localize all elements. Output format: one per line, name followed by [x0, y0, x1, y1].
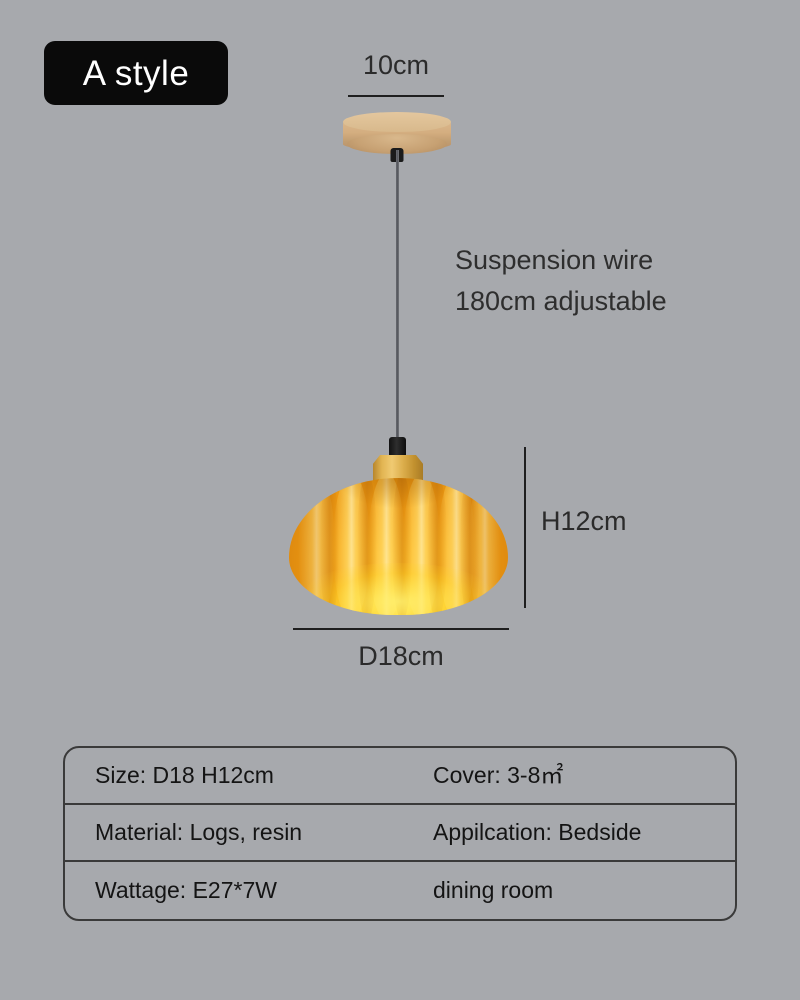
suspension-wire-note-line1: Suspension wire: [455, 240, 667, 281]
spec-size: Size: D18 H12cm: [65, 764, 400, 787]
spec-cover: Cover: 3-8㎡: [400, 764, 735, 787]
table-row: Wattage: E27*7W dining room: [65, 862, 735, 919]
shade-height-label: H12cm: [541, 508, 627, 535]
shade-body: [289, 478, 508, 615]
shade-diameter-label: D18cm: [293, 643, 509, 670]
spec-material: Material: Logs, resin: [65, 821, 400, 844]
shade-diameter-rule: [293, 628, 509, 630]
canopy-diameter-label: 10cm: [348, 52, 444, 79]
shade-height-rule: [524, 447, 526, 608]
spec-application: Appilcation: Bedside: [400, 821, 735, 844]
canopy-diameter-rule: [348, 95, 444, 97]
suspension-wire-note-line2: 180cm adjustable: [455, 281, 667, 322]
shade-bottom-glow: [307, 563, 491, 615]
specification-table: Size: D18 H12cm Cover: 3-8㎡ Material: Lo…: [63, 746, 737, 921]
style-badge: A style: [44, 41, 228, 105]
pumpkin-lamp-shade: [289, 478, 508, 615]
suspension-wire: [396, 150, 399, 442]
suspension-wire-note: Suspension wire 180cm adjustable: [455, 240, 667, 322]
spec-wattage: Wattage: E27*7W: [65, 879, 400, 902]
spec-application-continued: dining room: [400, 879, 735, 902]
lamp-cord-grip: [389, 437, 406, 458]
style-badge-label: A style: [83, 56, 190, 91]
shade-top-shading: [337, 478, 460, 508]
canopy-top-face: [343, 112, 451, 132]
table-row: Material: Logs, resin Appilcation: Bedsi…: [65, 805, 735, 862]
table-row: Size: D18 H12cm Cover: 3-8㎡: [65, 748, 735, 805]
